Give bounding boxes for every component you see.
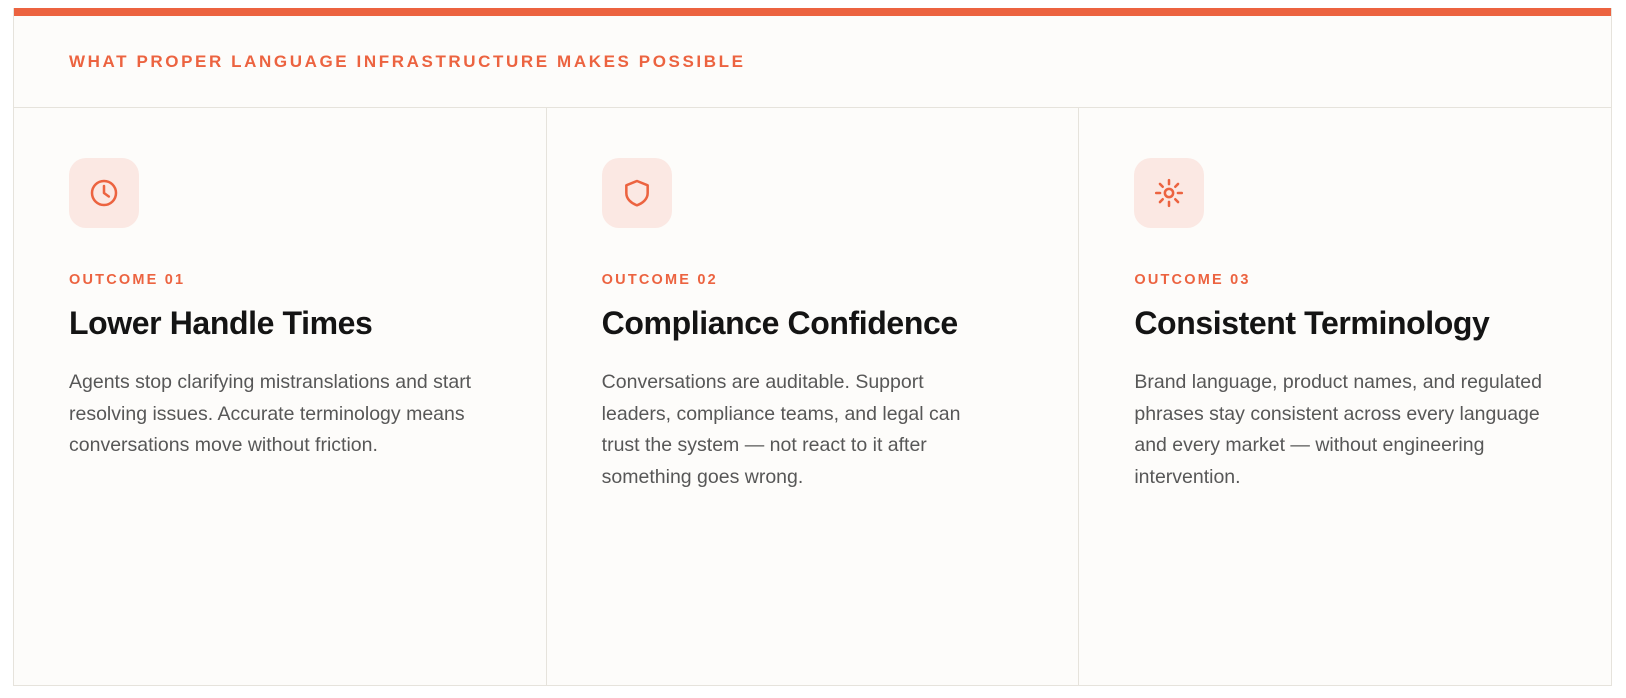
outcome-01-body: Agents stop clarifying mistranslations a… (69, 367, 489, 462)
section-eyebrow-title: WHAT PROPER LANGUAGE INFRASTRUCTURE MAKE… (69, 52, 746, 72)
outcomes-panel: WHAT PROPER LANGUAGE INFRASTRUCTURE MAKE… (13, 8, 1612, 686)
sun-icon (1153, 177, 1185, 209)
outcome-card-02: OUTCOME 02 Compliance Confidence Convers… (547, 108, 1080, 685)
outcome-card-03: OUTCOME 03 Consistent Terminology Brand … (1079, 108, 1611, 685)
outcome-02-eyebrow: OUTCOME 02 (602, 272, 1024, 288)
outcome-01-eyebrow: OUTCOME 01 (69, 272, 491, 288)
outcome-02-icon-tile (602, 158, 672, 228)
outcome-03-title: Consistent Terminology (1134, 305, 1556, 342)
outcome-03-icon-tile (1134, 158, 1204, 228)
outcome-02-body: Conversations are auditable. Support lea… (602, 367, 972, 493)
outcome-01-title: Lower Handle Times (69, 305, 491, 342)
panel-header: WHAT PROPER LANGUAGE INFRASTRUCTURE MAKE… (14, 16, 1611, 108)
outcome-card-01: OUTCOME 01 Lower Handle Times Agents sto… (14, 108, 547, 685)
outcome-01-icon-tile (69, 158, 139, 228)
shield-icon (621, 177, 653, 209)
outcome-03-body: Brand language, product names, and regul… (1134, 367, 1544, 493)
outcome-cards-row: OUTCOME 01 Lower Handle Times Agents sto… (14, 108, 1611, 685)
outcome-02-title: Compliance Confidence (602, 305, 1024, 342)
accent-bar (14, 8, 1611, 16)
clock-icon (88, 177, 120, 209)
outcome-03-eyebrow: OUTCOME 03 (1134, 272, 1556, 288)
